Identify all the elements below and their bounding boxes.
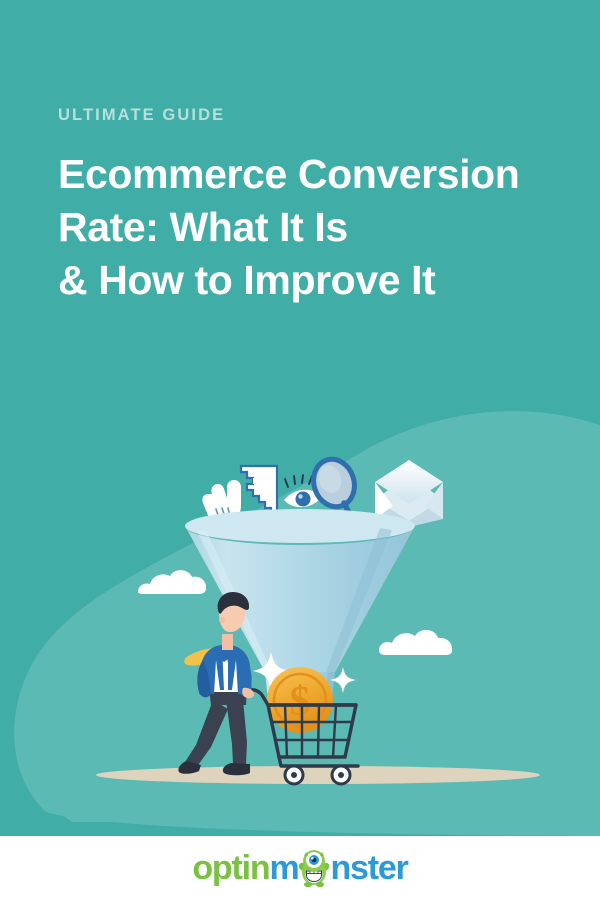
logo-text-optin: optin <box>192 849 269 887</box>
svg-text:$: $ <box>290 679 311 725</box>
headline-line-1: Ecommerce Conversion <box>58 148 568 201</box>
eyebrow-label: ULTIMATE GUIDE <box>58 106 568 126</box>
cloud-left-icon <box>138 570 206 594</box>
logo-text-nster: nster <box>330 849 407 887</box>
optinmonster-logo[interactable]: optin m <box>192 848 407 888</box>
poster-canvas: $ <box>0 0 600 900</box>
logo-footer: optin m <box>0 836 600 900</box>
teal-background-panel: $ <box>0 0 600 836</box>
headline-line-3: & How to Improve It <box>58 254 568 307</box>
monster-mascot-icon <box>297 848 331 888</box>
cloud-right-icon <box>379 630 452 655</box>
shopper-businessman-icon <box>178 592 254 775</box>
logo-text-m: m <box>269 849 298 887</box>
ground-ellipse <box>96 766 540 784</box>
headline-line-2: Rate: What It Is <box>58 201 568 254</box>
title-block: ULTIMATE GUIDE Ecommerce Conversion Rate… <box>58 106 568 307</box>
arrow-cursor-icon <box>241 466 277 514</box>
page-title: Ecommerce Conversion Rate: What It Is & … <box>58 148 568 307</box>
